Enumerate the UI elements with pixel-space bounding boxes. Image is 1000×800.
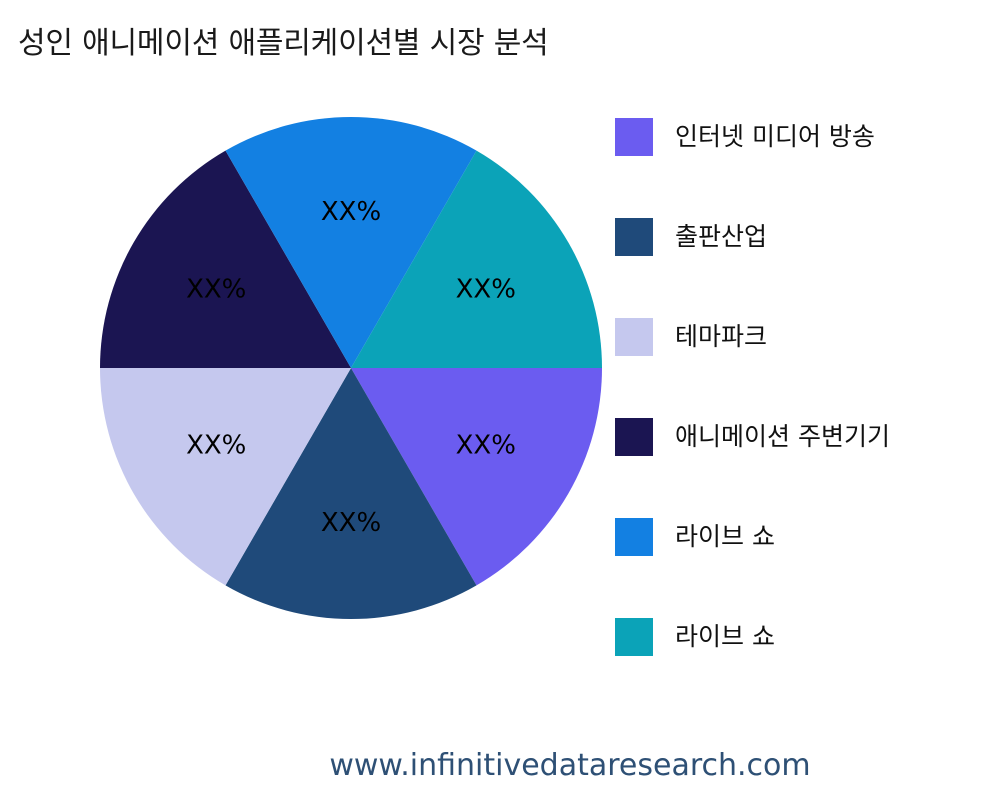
pie-chart-svg: XX%XX%XX%XX%XX%XX% bbox=[0, 0, 640, 720]
legend-color-swatch bbox=[615, 618, 653, 656]
legend-item-label: 인터넷 미디어 방송 bbox=[675, 117, 875, 157]
legend-item[interactable]: 인터넷 미디어 방송 bbox=[615, 118, 995, 218]
legend-item[interactable]: 애니메이션 주변기기 bbox=[615, 418, 995, 518]
legend-item[interactable]: 출판산업 bbox=[615, 218, 995, 318]
legend-item[interactable]: 테마파크 bbox=[615, 318, 995, 418]
legend-item-label: 출판산업 bbox=[675, 217, 767, 257]
legend-item[interactable]: 라이브 쇼 bbox=[615, 518, 995, 618]
legend-color-swatch bbox=[615, 218, 653, 256]
pie-slice-value-label: XX% bbox=[321, 197, 381, 227]
footer-url[interactable]: www.infinitivedataresearch.com bbox=[0, 748, 1000, 783]
legend-color-swatch bbox=[615, 518, 653, 556]
legend-color-swatch bbox=[615, 118, 653, 156]
legend-item-label: 라이브 쇼 bbox=[675, 617, 775, 657]
pie-slice-value-label: XX% bbox=[186, 430, 246, 460]
legend-color-swatch bbox=[615, 318, 653, 356]
legend-item-label: 테마파크 bbox=[675, 317, 767, 357]
legend: 인터넷 미디어 방송출판산업테마파크애니메이션 주변기기라이브 쇼라이브 쇼 bbox=[615, 118, 995, 718]
legend-item[interactable]: 라이브 쇼 bbox=[615, 618, 995, 718]
legend-item-label: 애니메이션 주변기기 bbox=[675, 417, 890, 457]
pie-slice-value-label: XX% bbox=[456, 430, 516, 460]
pie-slice-value-label: XX% bbox=[321, 508, 381, 538]
pie-slice-value-label: XX% bbox=[456, 275, 516, 305]
pie-slice-group bbox=[100, 117, 602, 619]
pie-chart: XX%XX%XX%XX%XX%XX% bbox=[0, 0, 640, 720]
legend-color-swatch bbox=[615, 418, 653, 456]
pie-slice-value-label: XX% bbox=[186, 275, 246, 305]
legend-item-label: 라이브 쇼 bbox=[675, 517, 775, 557]
